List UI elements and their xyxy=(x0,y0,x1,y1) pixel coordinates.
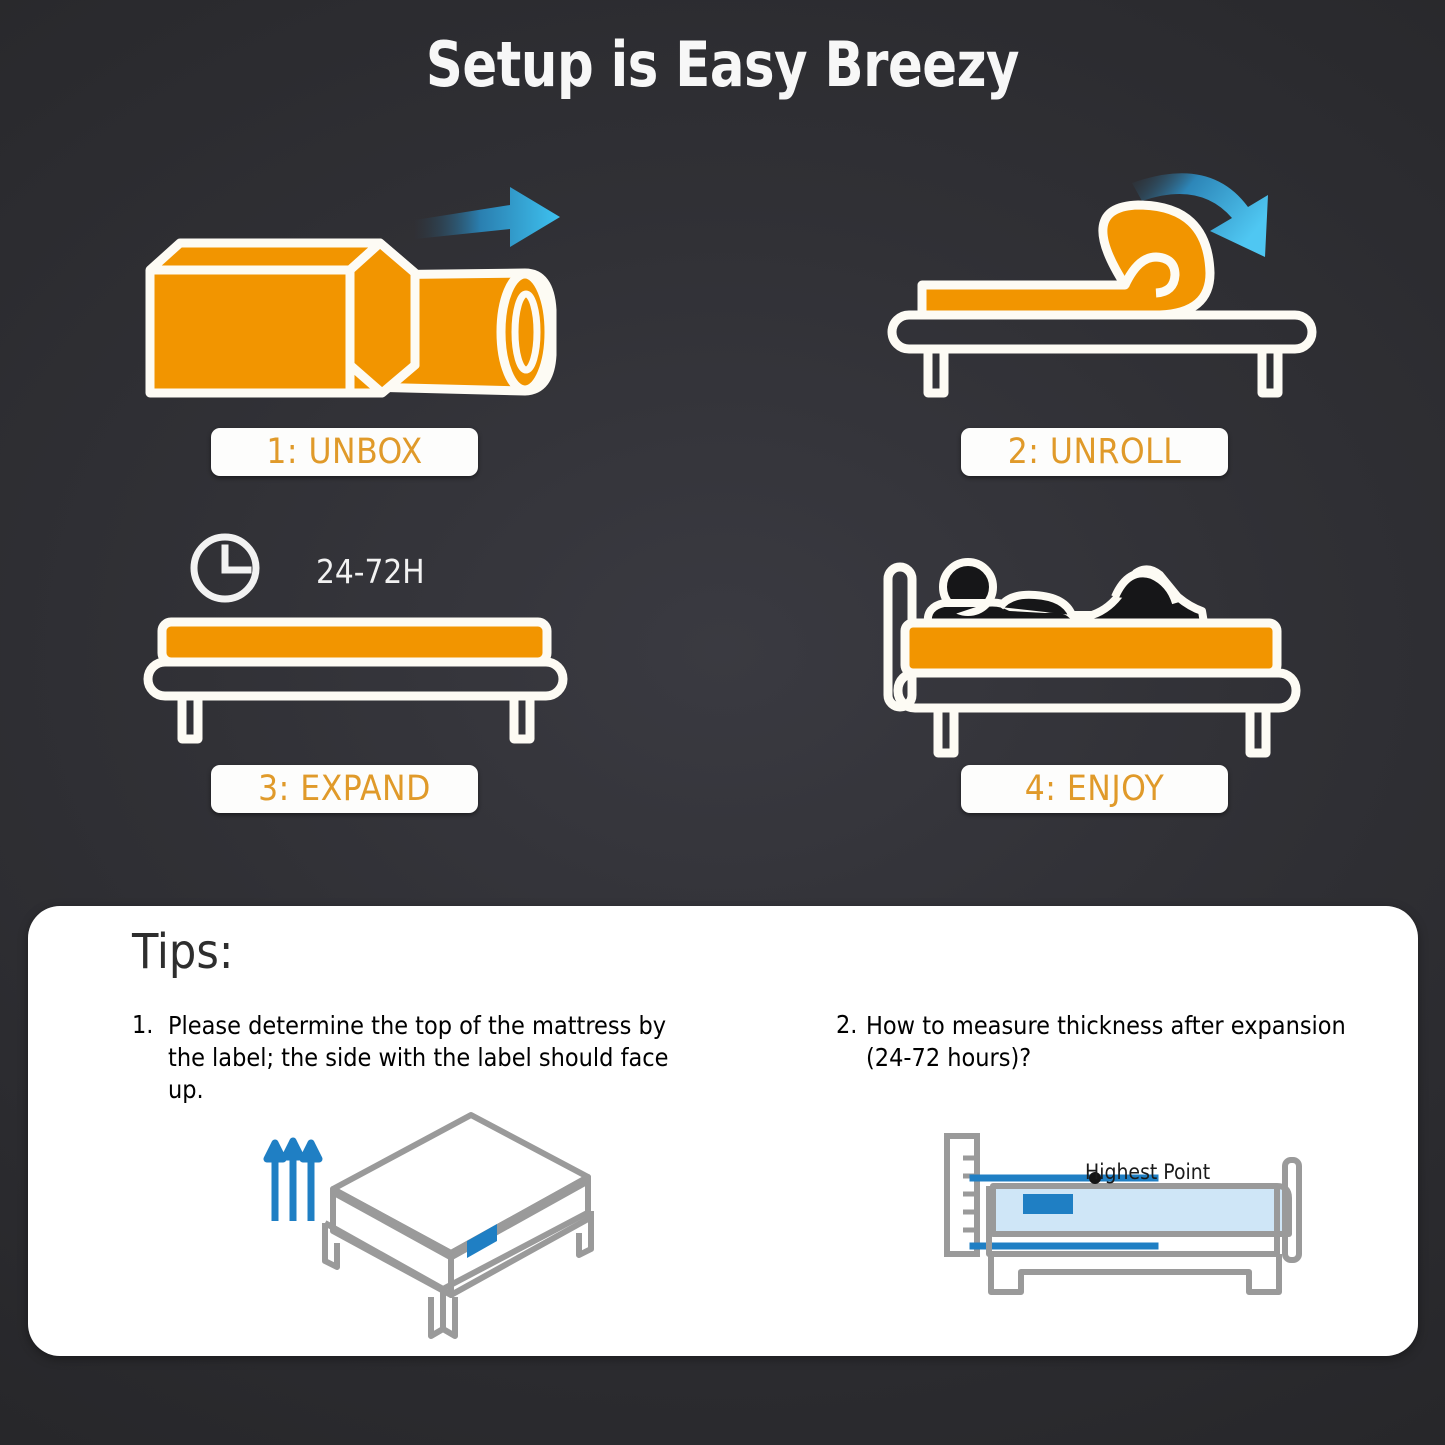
straight-blue-arrow-icon xyxy=(415,187,560,247)
step-label-enjoy: 4: ENJOY xyxy=(961,765,1228,813)
curling-mattress-shape xyxy=(922,205,1210,315)
person-silhouette xyxy=(928,562,1204,623)
bed-side-view-with-ruler-icon xyxy=(933,1124,1333,1334)
bed-frame-shape xyxy=(898,673,1296,753)
mattress-shape xyxy=(905,623,1277,673)
person-sleeping-on-bed-icon xyxy=(860,545,1340,795)
three-up-arrows-icon xyxy=(267,1141,319,1221)
bed-frame-shape xyxy=(892,315,1312,393)
tips-heading: Tips: xyxy=(132,924,233,980)
mattress-label-tag xyxy=(1023,1194,1073,1214)
tip-1-number: 1. xyxy=(132,1010,153,1039)
mattress-shape xyxy=(162,622,547,662)
tip-2-text: How to measure thickness after expansion… xyxy=(866,1010,1386,1074)
step-label-expand: 3: EXPAND xyxy=(211,765,478,813)
highest-point-label: Highest Point xyxy=(1085,1160,1210,1184)
clock-icon xyxy=(194,537,256,599)
tips-card: Tips: 1. Please determine the top of the… xyxy=(28,906,1418,1356)
tip-2-number: 2. xyxy=(836,1010,857,1039)
ruler-icon xyxy=(947,1136,977,1254)
isometric-mattress-with-label-icon xyxy=(243,1091,643,1341)
cardboard-box-shape xyxy=(150,243,415,393)
mattress-isometric-shape xyxy=(333,1115,588,1295)
step-label-unroll: 2: UNROLL xyxy=(961,428,1228,476)
page-title: Setup is Easy Breezy xyxy=(58,28,1387,101)
infographic-page: Setup is Easy Breezy xyxy=(0,0,1445,1445)
expand-duration-badge: 24-72H xyxy=(316,552,425,591)
bed-frame-shape xyxy=(148,662,563,739)
step-label-unbox: 1: UNBOX xyxy=(211,428,478,476)
